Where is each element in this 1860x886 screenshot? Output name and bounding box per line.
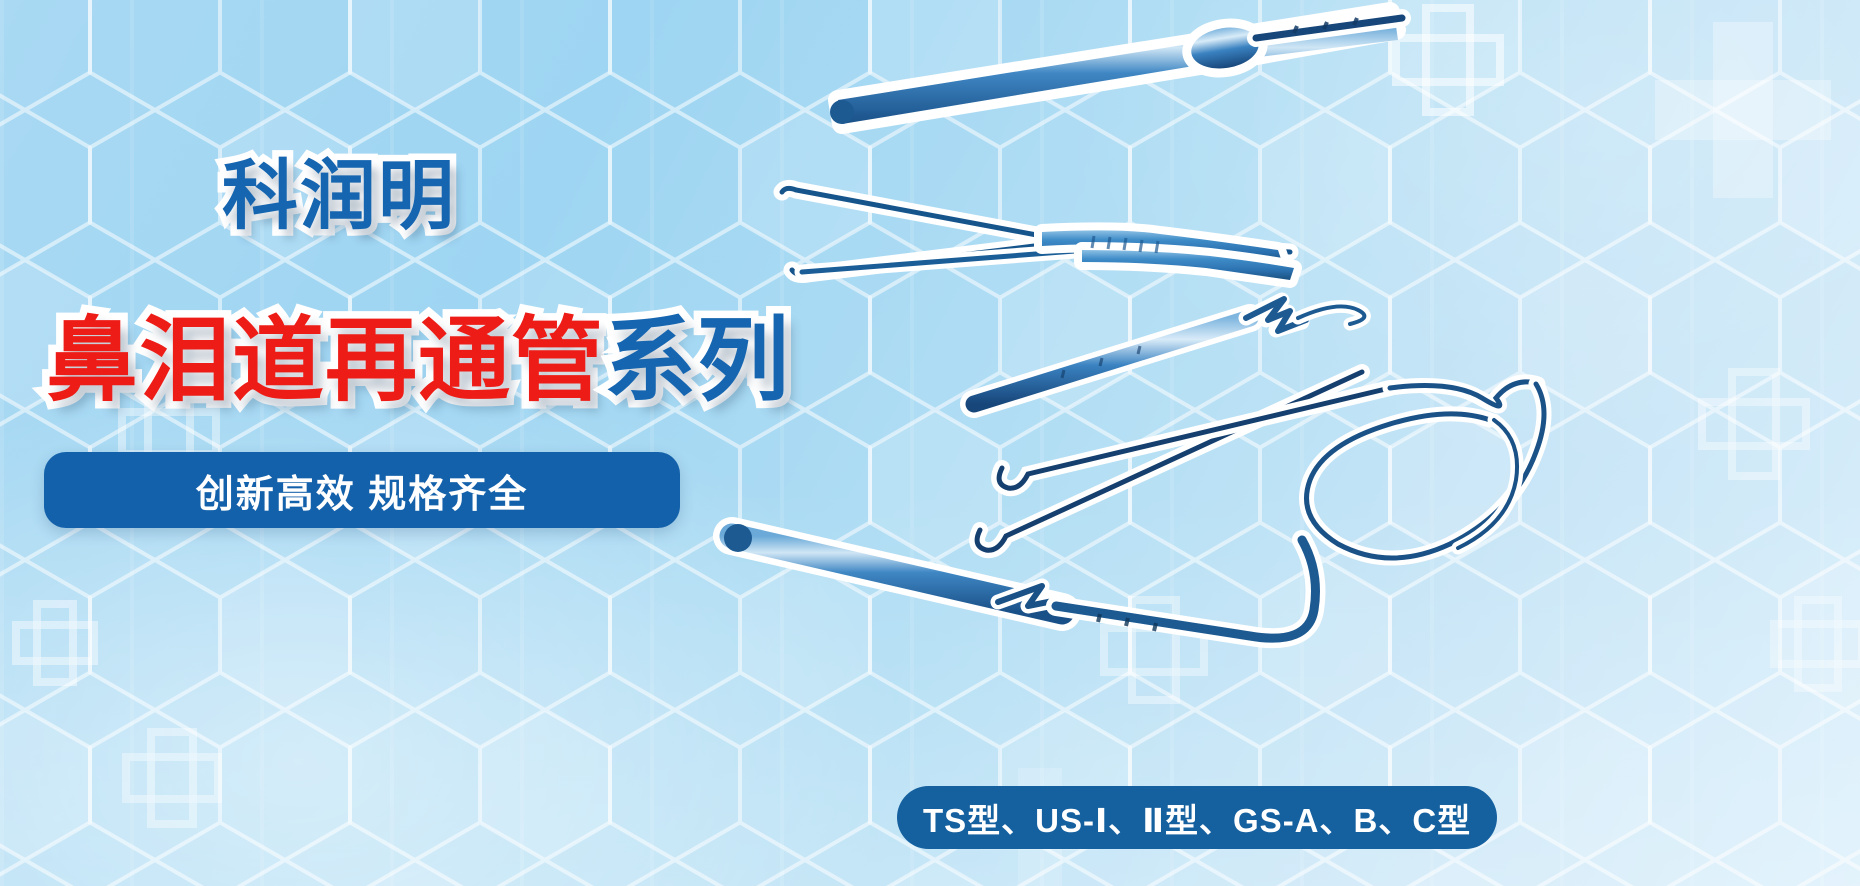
page-title: 鼻泪道再通管系列 (46, 286, 790, 419)
cross-bottom-left-icon (12, 600, 82, 670)
cross-far-bottom-right-icon (1770, 596, 1850, 676)
product-lacrimal-intubation-tube (724, 524, 1316, 638)
model-list-badge: TS型、US-Ⅰ、Ⅱ型、GS-A、B、C型 (897, 786, 1497, 849)
tagline-text: 创新高效 规格齐全 (196, 463, 529, 518)
hexagon-grid-pattern (0, 0, 1860, 886)
cross-right-mid-icon (1698, 368, 1794, 464)
product-lacrimal-probe-arrow (974, 299, 1364, 404)
tagline-badge: 创新高效 规格齐全 (44, 452, 680, 528)
brand-name: 科润明 (222, 134, 456, 244)
cross-top-right-large-icon (1655, 22, 1831, 198)
product-photo-group (690, 0, 1860, 800)
headline-primary: 鼻泪道再通管 (46, 310, 604, 412)
cross-bottom-center-icon (122, 728, 206, 812)
vertical-line-pattern (0, 0, 1860, 886)
product-lacrimal-hook-probes (977, 372, 1390, 550)
background-sheen-overlay (0, 0, 1860, 886)
cross-top-right-small-icon (1392, 4, 1488, 100)
product-lacrimal-tube-bulb (830, 12, 1402, 124)
product-banner: 科润明 鼻泪道再通管系列 创新高效 规格齐全 TS型、US-Ⅰ、Ⅱ型、GS-A、… (0, 0, 1860, 886)
headline-secondary: 系列 (604, 310, 790, 412)
cross-bottom-right-icon (1100, 596, 1192, 688)
product-lacrimal-forceps (782, 188, 1294, 280)
hexagon-fill-accents (0, 0, 1860, 886)
product-lacrimal-loop-stent (1307, 382, 1545, 558)
model-list-text: TS型、US-Ⅰ、Ⅱ型、GS-A、B、C型 (923, 794, 1471, 842)
